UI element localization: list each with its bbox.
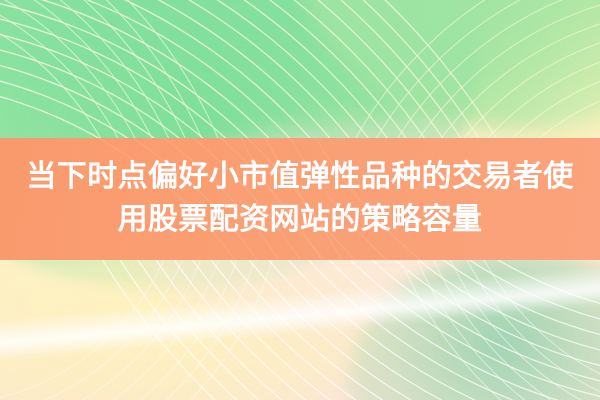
headline-band: 当下时点偏好小市值弹性品种的交易者使用股票配资网站的策略容量: [0, 138, 600, 260]
headline-text: 当下时点偏好小市值弹性品种的交易者使用股票配资网站的策略容量: [15, 156, 585, 241]
promo-banner: 当下时点偏好小市值弹性品种的交易者使用股票配资网站的策略容量: [0, 0, 600, 400]
